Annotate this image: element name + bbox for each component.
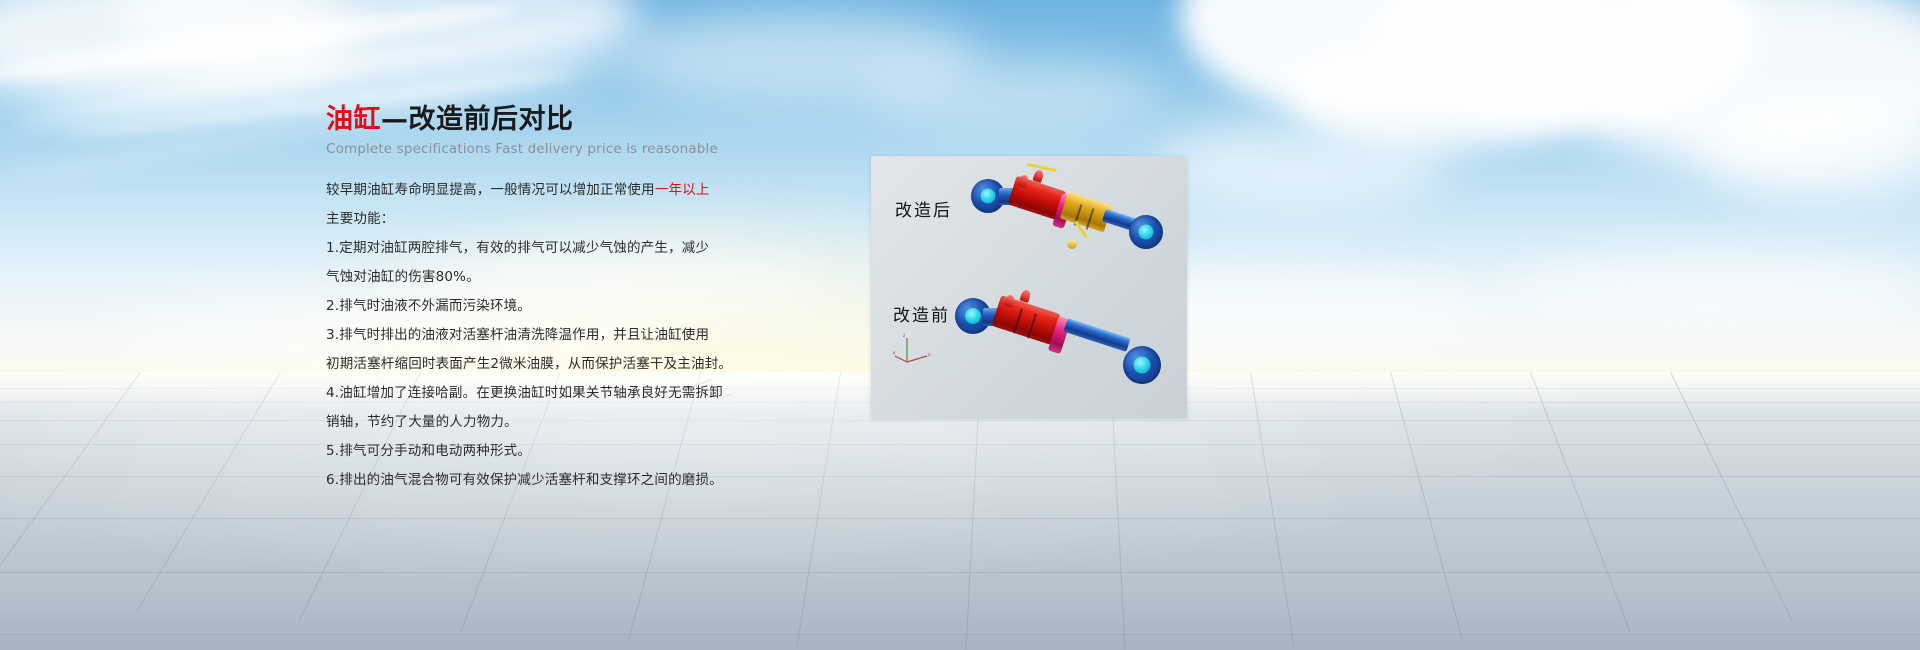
feature-line: 2.排气时油液不外漏而污染环境。	[326, 294, 796, 318]
banner-text-block: 油缸—改造前后对比 Complete specifications Fast d…	[326, 104, 796, 497]
feature-line: 较早期油缸寿命明显提高，一般情况可以增加正常使用一年以上	[326, 178, 796, 202]
ground-line	[0, 444, 1920, 445]
title-highlight: 油缸	[326, 104, 381, 135]
hydraulic-cylinder-modified	[871, 156, 1187, 276]
feature-list: 较早期油缸寿命明显提高，一般情况可以增加正常使用一年以上 主要功能： 1.定期对…	[326, 178, 796, 492]
cloud	[1150, 120, 1450, 210]
hydraulic-cylinder-original	[871, 268, 1187, 398]
piston-rod	[1063, 318, 1130, 352]
feature-line: 3.排气时排出的油液对活塞杆油清洗降温作用，并且让油缸使用	[326, 323, 796, 347]
ground-line	[0, 420, 1920, 421]
ground-line	[0, 572, 1920, 573]
cylinder-eye-right	[1129, 215, 1163, 249]
feature-line: 初期活塞杆缩回时表面产生2微米油膜，从而保护活塞干及主油封。	[326, 352, 796, 376]
subtitle: Complete specifications Fast delivery pr…	[326, 141, 796, 157]
feature-line: 1.定期对油缸两腔排气，有效的排气可以减少气蚀的产生，减少	[326, 236, 796, 260]
ground-line	[0, 518, 1920, 519]
feature-line: 气蚀对油缸的伤害80%。	[326, 265, 796, 289]
feature-line: 销轴，节约了大量的人力物力。	[326, 410, 796, 434]
page-title: 油缸—改造前后对比	[326, 104, 796, 135]
ground-line	[1250, 372, 1294, 647]
feature-line: 4.油缸增加了连接哈副。在更换油缸时如果关节轴承良好无需拆卸	[326, 381, 796, 405]
bleed-valve	[1067, 240, 1077, 249]
feature-line-text: 较早期油缸寿命明显提高，一般情况可以增加正常使用	[326, 182, 655, 198]
cylinder-port-cap	[1019, 289, 1031, 303]
cylinder-port-cap	[1032, 169, 1044, 183]
ground-line	[0, 476, 1920, 477]
feature-line: 6.排出的油气混合物可有效保护减少活塞杆和支撑环之间的磨损。	[326, 468, 796, 492]
ground-line	[797, 372, 841, 647]
cloud	[1500, 250, 1920, 330]
ground-line	[1390, 372, 1463, 641]
ground-line	[0, 634, 1920, 635]
feature-line: 5.排气可分手动和电动两种形式。	[326, 439, 796, 463]
product-comparison-panel: 改造后 改造前 z x y	[871, 156, 1187, 418]
cylinder-eye-right	[1123, 346, 1161, 384]
hero-banner: 油缸—改造前后对比 Complete specifications Fast d…	[0, 0, 1920, 650]
feature-line: 主要功能：	[326, 207, 796, 231]
title-rest: —改造前后对比	[381, 104, 574, 135]
cloud	[860, 60, 1160, 130]
feature-line-emphasis: 一年以上	[655, 182, 710, 198]
